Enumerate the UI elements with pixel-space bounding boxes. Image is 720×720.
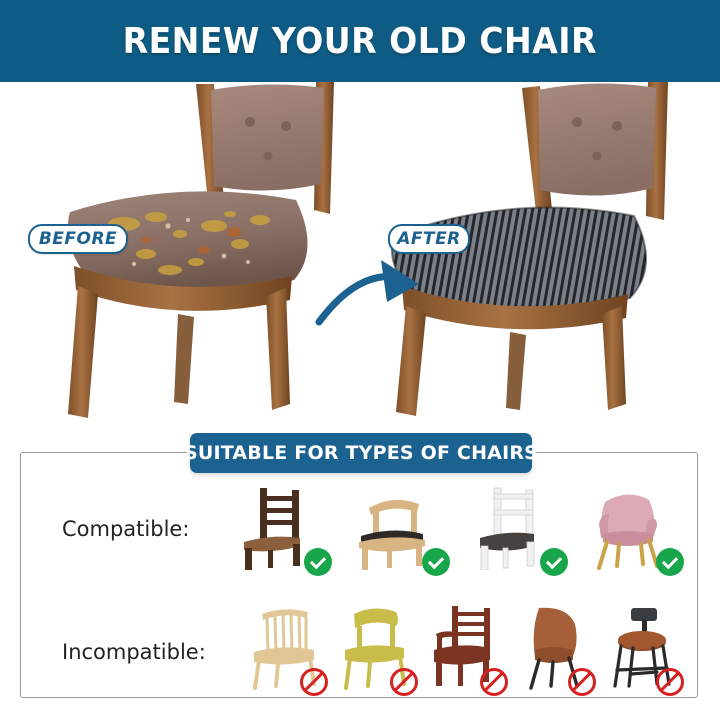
page-title: RENEW YOUR OLD CHAIR — [123, 21, 597, 62]
chair-wooden-armchair — [420, 604, 510, 690]
suitable-banner: SUITABLE FOR TYPES OF CHAIRS — [190, 433, 532, 473]
before-badge-label: BEFORE — [39, 229, 117, 249]
incompatible-chair-row — [240, 604, 686, 690]
before-badge: BEFORE — [28, 224, 128, 254]
incompatible-prohibition-icon — [656, 668, 684, 696]
incompatible-prohibition-icon — [300, 668, 328, 696]
chair-metal-leg-round-stool — [598, 604, 686, 690]
header-banner: RENEW YOUR OLD CHAIR — [0, 0, 720, 82]
chair-white-painted-dining — [452, 484, 570, 570]
chair-brown-leather-shell — [510, 604, 598, 690]
compatible-check-icon — [656, 548, 684, 576]
incompatible-prohibition-icon — [480, 668, 508, 696]
after-badge-label: AFTER — [397, 229, 461, 249]
chair-light-wood-round-back — [334, 484, 452, 570]
chair-yellow-plastic-stacking — [330, 604, 420, 690]
compatible-chair-row — [216, 484, 686, 570]
before-after-comparison: BEFORE AFTER — [0, 82, 720, 427]
incompatible-label: Incompatible: — [62, 640, 206, 664]
incompatible-prohibition-icon — [390, 668, 418, 696]
curved-arrow-icon — [315, 254, 435, 329]
compatible-check-icon — [540, 548, 568, 576]
chair-dark-wood-ladderback — [216, 484, 334, 570]
compatible-label: Compatible: — [62, 517, 189, 541]
compatible-check-icon — [304, 548, 332, 576]
after-badge: AFTER — [388, 224, 470, 254]
infographic-page: RENEW YOUR OLD CHAIR — [0, 0, 720, 720]
compatible-check-icon — [422, 548, 450, 576]
chair-pink-velvet-accent — [570, 484, 686, 570]
incompatible-prohibition-icon — [568, 668, 596, 696]
chair-natural-wood-spindle — [240, 604, 330, 690]
suitable-banner-label: SUITABLE FOR TYPES OF CHAIRS — [184, 442, 538, 464]
